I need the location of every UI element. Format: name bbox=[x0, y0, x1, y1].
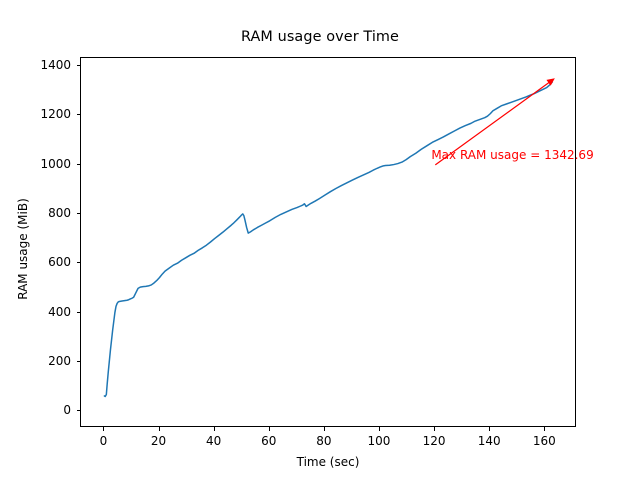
x-tick-mark bbox=[324, 427, 325, 431]
x-tick-label: 160 bbox=[533, 434, 556, 448]
x-tick-mark bbox=[159, 427, 160, 431]
y-tick-mark bbox=[77, 361, 81, 362]
x-tick-label: 100 bbox=[368, 434, 391, 448]
y-tick-label: 1400 bbox=[0, 58, 71, 72]
data-series-line bbox=[81, 58, 577, 428]
chart-title: RAM usage over Time bbox=[0, 29, 640, 45]
x-tick-label: 80 bbox=[316, 434, 331, 448]
y-tick-label: 1200 bbox=[0, 107, 71, 121]
y-tick-mark bbox=[77, 312, 81, 313]
y-tick-label: 200 bbox=[0, 354, 71, 368]
x-tick-mark bbox=[489, 427, 490, 431]
chart-figure: RAM usage over Time 02004006008001000120… bbox=[0, 0, 640, 480]
x-tick-label: 40 bbox=[206, 434, 221, 448]
y-tick-mark bbox=[77, 262, 81, 263]
max-usage-annotation: Max RAM usage = 1342.69 bbox=[431, 148, 593, 162]
y-tick-label: 600 bbox=[0, 255, 71, 269]
y-tick-mark bbox=[77, 164, 81, 165]
y-tick-mark bbox=[77, 65, 81, 66]
y-tick-label: 1000 bbox=[0, 157, 71, 171]
y-tick-label: 0 bbox=[0, 403, 71, 417]
x-tick-mark bbox=[379, 427, 380, 431]
y-tick-mark bbox=[77, 114, 81, 115]
y-axis-label: RAM usage (MiB) bbox=[16, 174, 30, 324]
x-tick-mark bbox=[269, 427, 270, 431]
y-tick-label: 400 bbox=[0, 305, 71, 319]
x-tick-label: 0 bbox=[100, 434, 108, 448]
x-tick-mark bbox=[103, 427, 104, 431]
x-tick-label: 120 bbox=[423, 434, 446, 448]
x-axis-label: Time (sec) bbox=[80, 455, 576, 469]
x-tick-label: 140 bbox=[478, 434, 501, 448]
x-tick-label: 20 bbox=[151, 434, 166, 448]
plot-area bbox=[80, 57, 576, 427]
x-tick-mark bbox=[544, 427, 545, 431]
x-tick-label: 60 bbox=[261, 434, 276, 448]
y-tick-mark bbox=[77, 410, 81, 411]
y-tick-label: 800 bbox=[0, 206, 71, 220]
x-tick-mark bbox=[214, 427, 215, 431]
x-tick-mark bbox=[434, 427, 435, 431]
y-tick-mark bbox=[77, 213, 81, 214]
